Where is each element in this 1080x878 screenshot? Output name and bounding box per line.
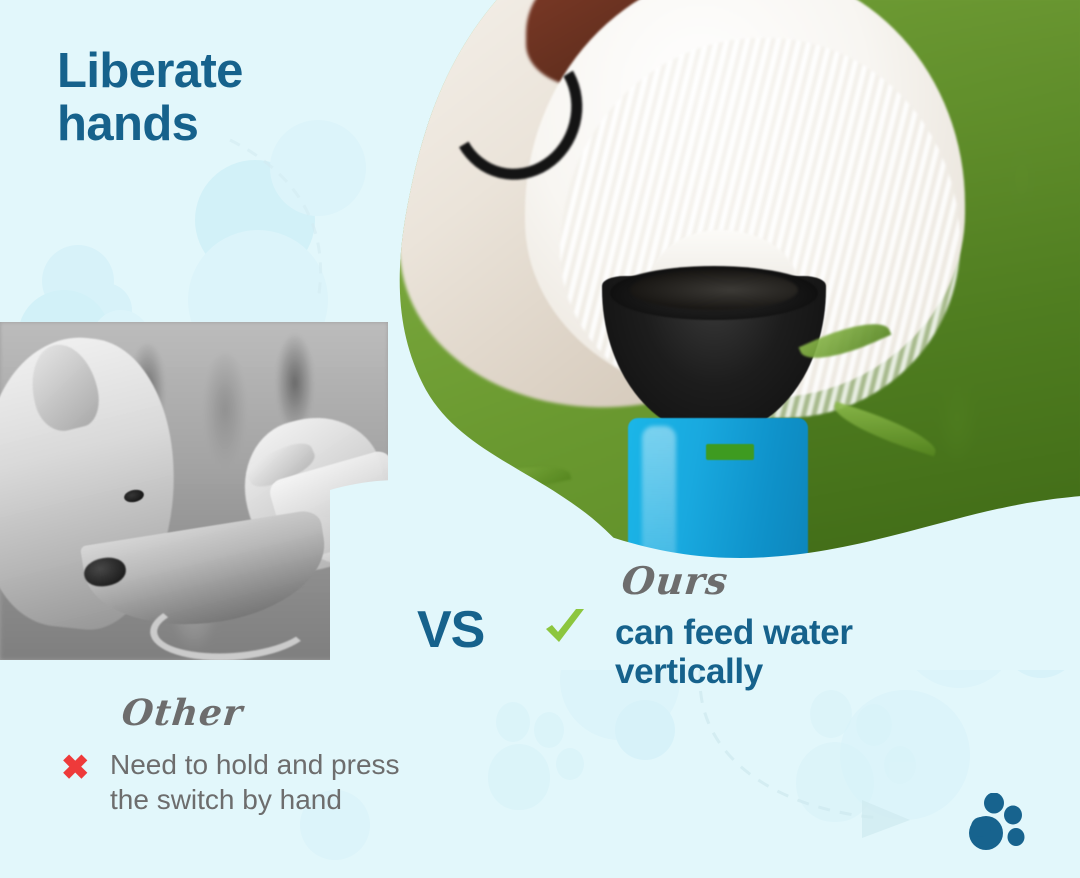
other-drawback-text: Need to hold and press the switch by han…	[110, 748, 400, 817]
page-headline: Liberate hands	[57, 45, 243, 151]
other-text-line-1: Need to hold and press	[110, 749, 400, 780]
check-icon	[543, 607, 587, 651]
bubble	[615, 700, 675, 760]
x-icon: ✖	[61, 748, 90, 788]
paw-watermark	[480, 700, 600, 820]
vs-label: VS	[417, 600, 484, 660]
ours-benefit-text: can feed water vertically	[615, 613, 853, 691]
paw-watermark	[790, 690, 930, 830]
infographic-canvas: Liberate hands VS Ours can feed water ve…	[0, 0, 1080, 878]
paw-print-icon	[968, 793, 1030, 853]
other-label: Other	[120, 692, 245, 734]
bubble	[42, 245, 114, 317]
bubble	[270, 120, 366, 216]
bottle-brand-label	[706, 444, 754, 460]
bubble	[840, 690, 970, 820]
headline-line-1: Liberate	[57, 44, 243, 98]
competitor-photo	[0, 322, 388, 660]
bowl-interior	[630, 270, 798, 310]
bubble	[195, 160, 315, 280]
ours-text-line-2: vertically	[615, 652, 853, 691]
headline-line-2: hands	[57, 98, 243, 151]
ours-label: Ours	[620, 558, 731, 603]
ours-text-line-1: can feed water	[615, 613, 853, 652]
other-text-line-2: the switch by hand	[110, 783, 400, 818]
